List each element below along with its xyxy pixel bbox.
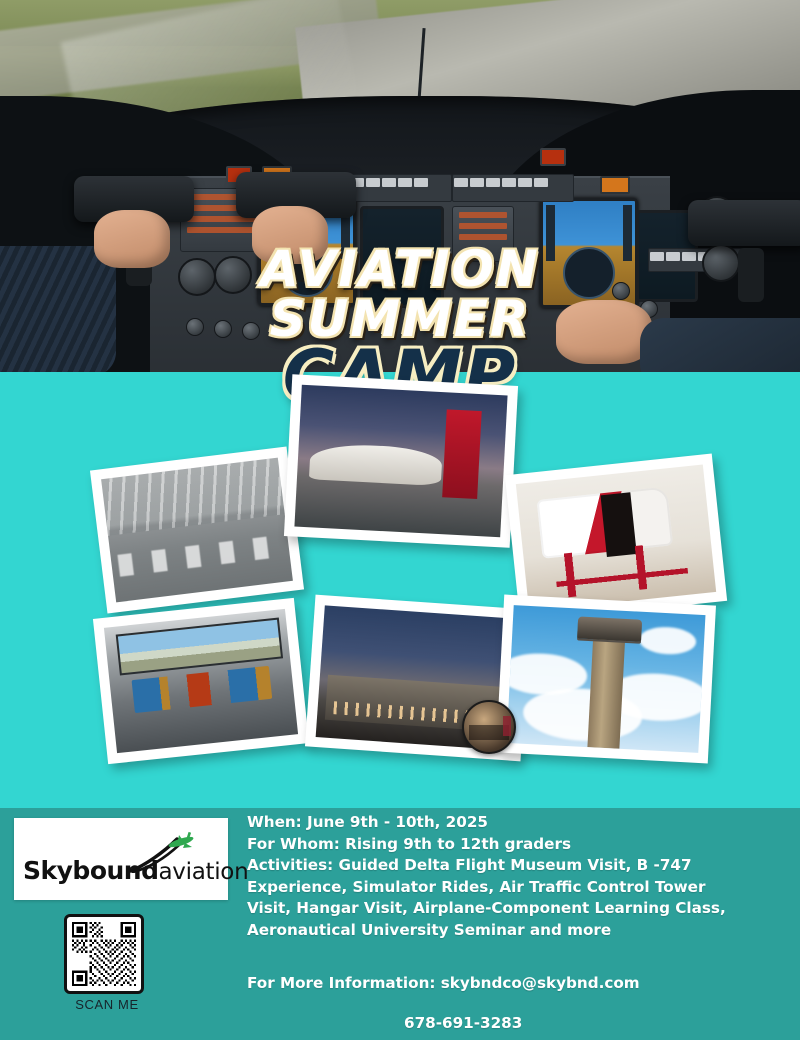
- contact-phone-1[interactable]: 678-691-3283: [404, 1011, 522, 1036]
- photo-atc-tower: [496, 595, 716, 764]
- detail-activities-4: Aeronautical University Seminar and more: [247, 920, 792, 942]
- detail-for-whom: For Whom: Rising 9th to 12th graders: [247, 834, 792, 856]
- photo-collage: [0, 372, 800, 808]
- copilot-hand: [556, 300, 652, 364]
- panel-knob-3: [242, 322, 260, 340]
- multifunction-display-center: [360, 206, 444, 308]
- panel-knob-2: [214, 320, 232, 338]
- master-warning-button: [600, 176, 630, 194]
- panel-knob-4: [612, 282, 630, 300]
- detail-activities-3: Visit, Hangar Visit, Airplane-Component …: [247, 898, 792, 920]
- pilot-left-sleeve: [0, 246, 116, 372]
- qr-code-block[interactable]: SCAN ME: [64, 914, 150, 1012]
- yoke-stem-right: [738, 248, 764, 302]
- flyer-poster: AVIATION SUMMER CAMP: [0, 0, 800, 1040]
- photo-delta-747-museum: [284, 374, 518, 548]
- altimeter-gauge: [702, 244, 740, 282]
- photo-hangar-interior: [90, 446, 304, 613]
- radio-stack-right: [452, 206, 514, 262]
- analog-gauge-2: [214, 256, 252, 294]
- contact-block: For More Information: skybndco@skybnd.co…: [247, 956, 792, 1040]
- contact-email[interactable]: skybndco@skybnd.com: [441, 974, 640, 992]
- skybound-logo: Skyboundaviation: [14, 818, 228, 900]
- analog-gauge-1: [178, 258, 216, 296]
- detail-activities-1: Activities: Guided Delta Flight Museum V…: [247, 855, 792, 877]
- photo-museum-interior-inset: [462, 700, 516, 754]
- detail-activities-2: Experience, Simulator Rides, Air Traffic…: [247, 877, 792, 899]
- contact-heading: For More Information:: [247, 974, 435, 992]
- photo-simulator-cockpit: [93, 598, 309, 764]
- switch-row-right: [452, 174, 574, 202]
- logo-brand-primary: Skybound: [23, 856, 159, 885]
- warning-light-right: [540, 148, 566, 166]
- logo-brand-secondary: aviation: [159, 859, 249, 885]
- qr-code-icon[interactable]: [64, 914, 144, 994]
- info-band: Skyboundaviation: [0, 808, 800, 1040]
- copilot-sleeve: [640, 318, 800, 372]
- detail-when: When: June 9th - 10th, 2025: [247, 812, 792, 834]
- contact-line-phone1: 678-691-3283: [247, 1011, 792, 1036]
- scan-me-label: SCAN ME: [64, 997, 150, 1012]
- panel-knob-1: [186, 318, 204, 336]
- camp-details: When: June 9th - 10th, 2025 For Whom: Ri…: [247, 812, 792, 941]
- control-yoke-right: [688, 200, 800, 246]
- hero-cockpit-photo: [0, 0, 800, 372]
- pilot-hand-left: [94, 210, 170, 268]
- pilot-hand-center: [252, 206, 328, 264]
- contact-line-email: For More Information: skybndco@skybnd.co…: [247, 971, 792, 996]
